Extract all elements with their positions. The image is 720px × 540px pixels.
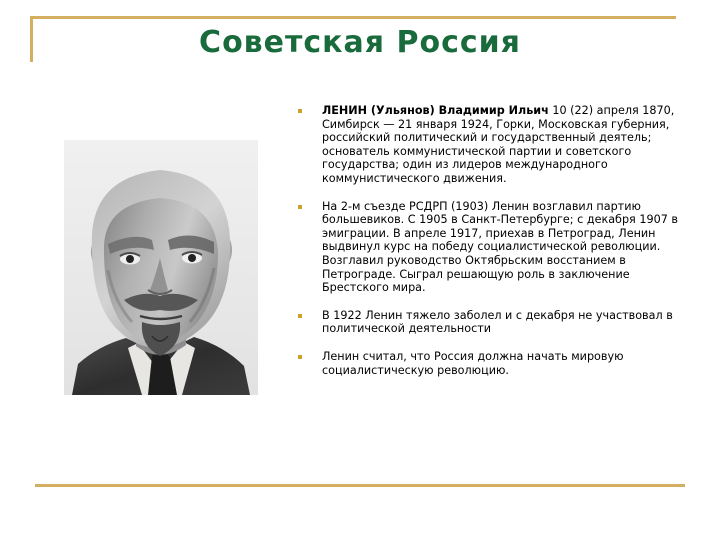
top-border-rule — [30, 16, 676, 19]
bullet-list: ЛЕНИН (Ульянов) Владимир Ильич 10 (22) а… — [292, 104, 696, 377]
portrait-illustration — [64, 140, 258, 395]
square-bullet-icon — [298, 205, 302, 209]
bullet-text: В 1922 Ленин тяжело заболел и с декабря … — [322, 309, 673, 336]
bottom-border-rule — [35, 484, 685, 487]
square-bullet-icon — [298, 314, 302, 318]
square-bullet-icon — [298, 109, 302, 113]
square-bullet-icon — [298, 355, 302, 359]
left-border-rule — [30, 16, 33, 62]
list-item: На 2-м съезде РСДРП (1903) Ленин возглав… — [292, 200, 696, 295]
bullet-lead: ЛЕНИН (Ульянов) Владимир Ильич — [322, 104, 549, 117]
presentation-slide: Советская Россия — [0, 0, 720, 540]
list-item: В 1922 Ленин тяжело заболел и с декабря … — [292, 309, 696, 336]
list-item: ЛЕНИН (Ульянов) Владимир Ильич 10 (22) а… — [292, 104, 696, 186]
bullet-text: Ленин считал, что Россия должна начать м… — [322, 350, 624, 377]
slide-title: Советская Россия — [60, 24, 660, 62]
list-item: Ленин считал, что Россия должна начать м… — [292, 350, 696, 377]
bullet-text: На 2-м съезде РСДРП (1903) Ленин возглав… — [322, 200, 678, 295]
lenin-portrait-image — [64, 140, 258, 395]
